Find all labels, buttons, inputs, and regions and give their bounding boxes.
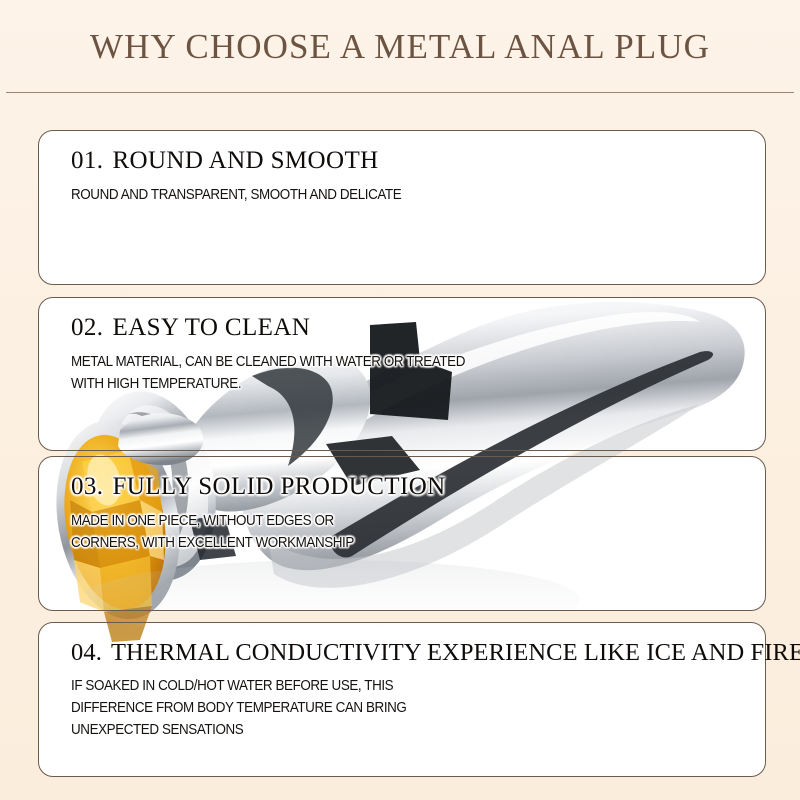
feature-card-2-number: 02.: [71, 314, 103, 341]
feature-card-2-title: EASY TO CLEAN: [112, 314, 310, 341]
feature-card-3-heading: 03.FULLY SOLID PRODUCTION: [71, 473, 739, 502]
feature-card-4[interactable]: 04.THERMAL CONDUCTIVITY EXPERIENCE LIKE …: [38, 622, 766, 777]
feature-card-2[interactable]: 02.EASY TO CLEAN METAL MATERIAL, CAN BE …: [38, 297, 766, 451]
feature-card-4-title: THERMAL CONDUCTIVITY EXPERIENCE LIKE ICE…: [111, 639, 800, 666]
page-title: WHY CHOOSE A METAL ANAL PLUG: [0, 27, 800, 67]
feature-card-4-heading: 04.THERMAL CONDUCTIVITY EXPERIENCE LIKE …: [71, 639, 739, 667]
feature-card-2-body: 02.EASY TO CLEAN METAL MATERIAL, CAN BE …: [39, 298, 767, 450]
feature-card-1[interactable]: 01.ROUND AND SMOOTH ROUND AND TRANSPAREN…: [38, 130, 766, 285]
feature-card-3-body: 03.FULLY SOLID PRODUCTION MADE IN ONE PI…: [39, 457, 767, 610]
feature-card-1-heading: 01.ROUND AND SMOOTH: [71, 147, 739, 176]
page-header: WHY CHOOSE A METAL ANAL PLUG: [0, 0, 800, 100]
feature-card-2-heading: 02.EASY TO CLEAN: [71, 314, 739, 343]
feature-card-3-description: MADE IN ONE PIECE, WITHOUT EDGES OR CORN…: [71, 510, 686, 554]
feature-card-1-body: 01.ROUND AND SMOOTH ROUND AND TRANSPAREN…: [39, 131, 767, 284]
title-divider: [6, 92, 794, 93]
feature-card-1-description: ROUND AND TRANSPARENT, SMOOTH AND DELICA…: [71, 184, 686, 206]
feature-card-3[interactable]: 03.FULLY SOLID PRODUCTION MADE IN ONE PI…: [38, 456, 766, 611]
feature-card-2-description: METAL MATERIAL, CAN BE CLEANED WITH WATE…: [71, 351, 686, 395]
feature-card-3-title: FULLY SOLID PRODUCTION: [112, 473, 445, 500]
feature-card-1-title: ROUND AND SMOOTH: [112, 147, 378, 174]
product-feature-page: WHY CHOOSE A METAL ANAL PLUG: [0, 0, 800, 800]
feature-card-4-description: IF SOAKED IN COLD/HOT WATER BEFORE USE, …: [71, 675, 686, 741]
feature-card-3-number: 03.: [71, 473, 103, 500]
feature-card-4-number: 04.: [71, 639, 102, 666]
feature-card-4-body: 04.THERMAL CONDUCTIVITY EXPERIENCE LIKE …: [39, 623, 767, 776]
feature-card-1-number: 01.: [71, 147, 103, 174]
